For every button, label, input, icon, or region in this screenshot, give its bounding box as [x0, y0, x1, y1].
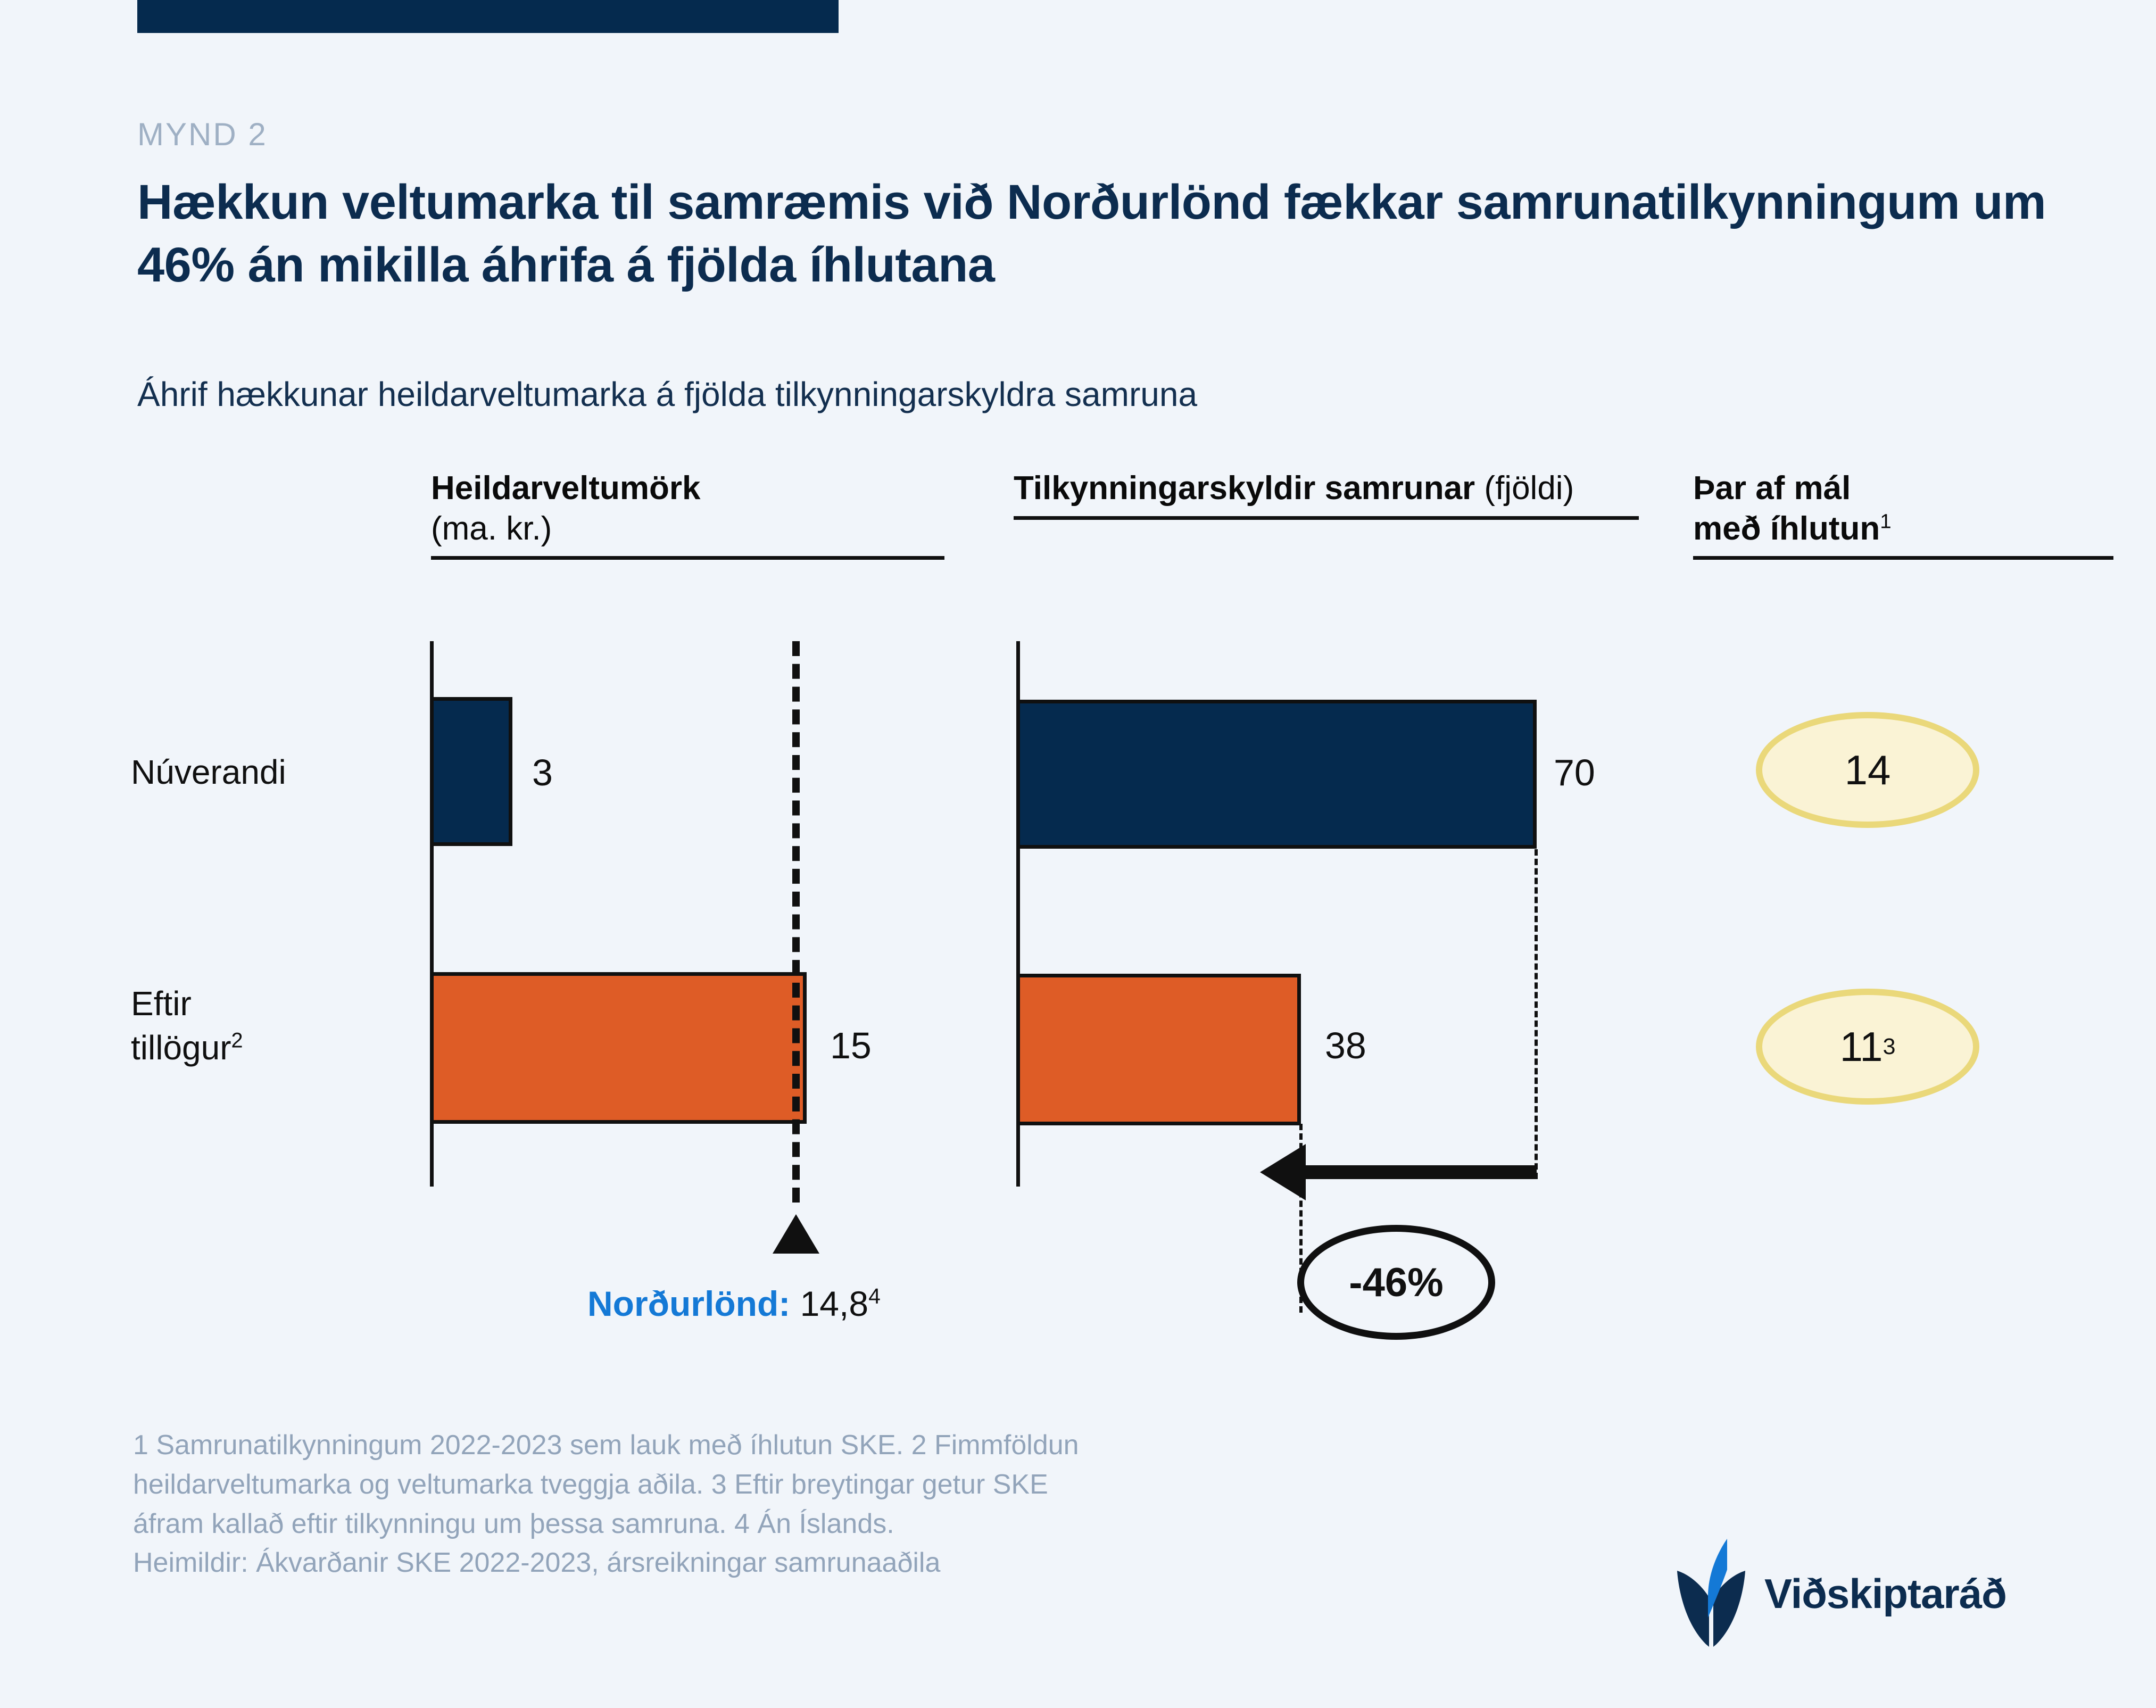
column-header-2-unit: (fjöldi): [1484, 470, 1574, 507]
bar-panel1-eftir: [430, 972, 807, 1124]
column-header-1-bold: Heildarveltumörk: [431, 470, 701, 507]
pill-intervention-eftir: 113: [1756, 989, 1979, 1105]
column-header-3-footnote-marker: 1: [1880, 510, 1891, 533]
column-header-tilkynningarskyldir: Tilkynningarskyldir samrunar (fjöldi): [1014, 468, 1639, 520]
brand-name: Viðskiptaráð: [1764, 1570, 2006, 1618]
pill-1-value: 14: [1845, 746, 1891, 794]
nordic-reference-label-value: 14,8: [800, 1284, 868, 1323]
row-label-2-line2: tillögur: [131, 1029, 231, 1067]
bar-value-panel1-eftir: 15: [830, 1024, 872, 1067]
bar-panel1-nuverandi: [430, 697, 512, 846]
infographic-page: MYND 2 Hækkun veltumarka til samræmis vi…: [0, 0, 2156, 1708]
page-subtitle: Áhrif hækkunar heildarveltumarka á fjöld…: [137, 372, 2053, 417]
brand-logo: Viðskiptaráð: [1676, 1538, 2006, 1649]
footnotes-block: 1 Samrunatilkynningum 2022-2023 sem lauk…: [133, 1426, 1676, 1583]
delta-percent-badge: -46%: [1297, 1225, 1495, 1340]
column-header-3-line1: Þar af mál: [1693, 470, 1851, 507]
page-title: Hækkun veltumarka til samræmis við Norðu…: [137, 171, 2053, 297]
nordic-reference-label-key: Norðurlönd:: [587, 1284, 790, 1323]
column-header-2-bold: Tilkynningarskyldir samrunar: [1014, 470, 1475, 507]
row-label-eftir-tillogur: Eftir tillögur2: [131, 982, 243, 1070]
row-label-2-line1: Eftir: [131, 984, 192, 1023]
bar-value-panel1-nuverandi: 3: [532, 751, 553, 794]
column-header-2-rule: [1014, 516, 1639, 520]
bar-panel2-eftir: [1016, 974, 1301, 1125]
row-label-nuverandi: Núverandi: [131, 750, 286, 794]
nordic-reference-footnote-marker: 4: [868, 1284, 881, 1308]
delta-arrow-head-icon: [1260, 1144, 1306, 1200]
pill-2-value: 11: [1840, 1023, 1883, 1071]
nordic-reference-line: [792, 641, 800, 1203]
footnote-line-4: Heimildir: Ákvarðanir SKE 2022-2023, árs…: [133, 1544, 1676, 1583]
column-header-1-unit: (ma. kr.): [431, 510, 552, 547]
wheat-leaf-logo-icon: [1676, 1538, 1746, 1649]
delta-arrow-shaft: [1303, 1165, 1537, 1179]
panel2-dropline-from-70: [1535, 849, 1538, 1179]
pill-intervention-nuverandi: 14: [1756, 712, 1979, 828]
bar-value-panel2-nuverandi: 70: [1554, 751, 1595, 794]
column-header-3-line2: með íhlutun: [1693, 510, 1880, 547]
bar-panel2-nuverandi: [1016, 700, 1537, 849]
row-label-2-footnote-marker: 2: [231, 1029, 243, 1052]
footnote-line-2: heildarveltumarka og veltumarka tveggja …: [133, 1465, 1676, 1505]
top-accent-bar: [137, 0, 839, 33]
nordic-reference-label: Norðurlönd: 14,84: [587, 1283, 881, 1324]
figure-eyebrow: MYND 2: [137, 116, 268, 153]
column-header-1-rule: [431, 556, 944, 560]
column-header-3-rule: [1693, 556, 2113, 560]
footnote-line-1: 1 Samrunatilkynningum 2022-2023 sem lauk…: [133, 1426, 1676, 1465]
bar-value-panel2-eftir: 38: [1325, 1024, 1366, 1067]
footnote-line-3: áfram kallað eftir tilkynningu um þessa …: [133, 1505, 1676, 1544]
nordic-reference-marker-triangle: [773, 1214, 819, 1254]
column-header-heildarveltumork: Heildarveltumörk (ma. kr.): [431, 468, 944, 560]
column-header-thar-af-mal: Þar af mál með íhlutun1: [1693, 468, 2113, 560]
